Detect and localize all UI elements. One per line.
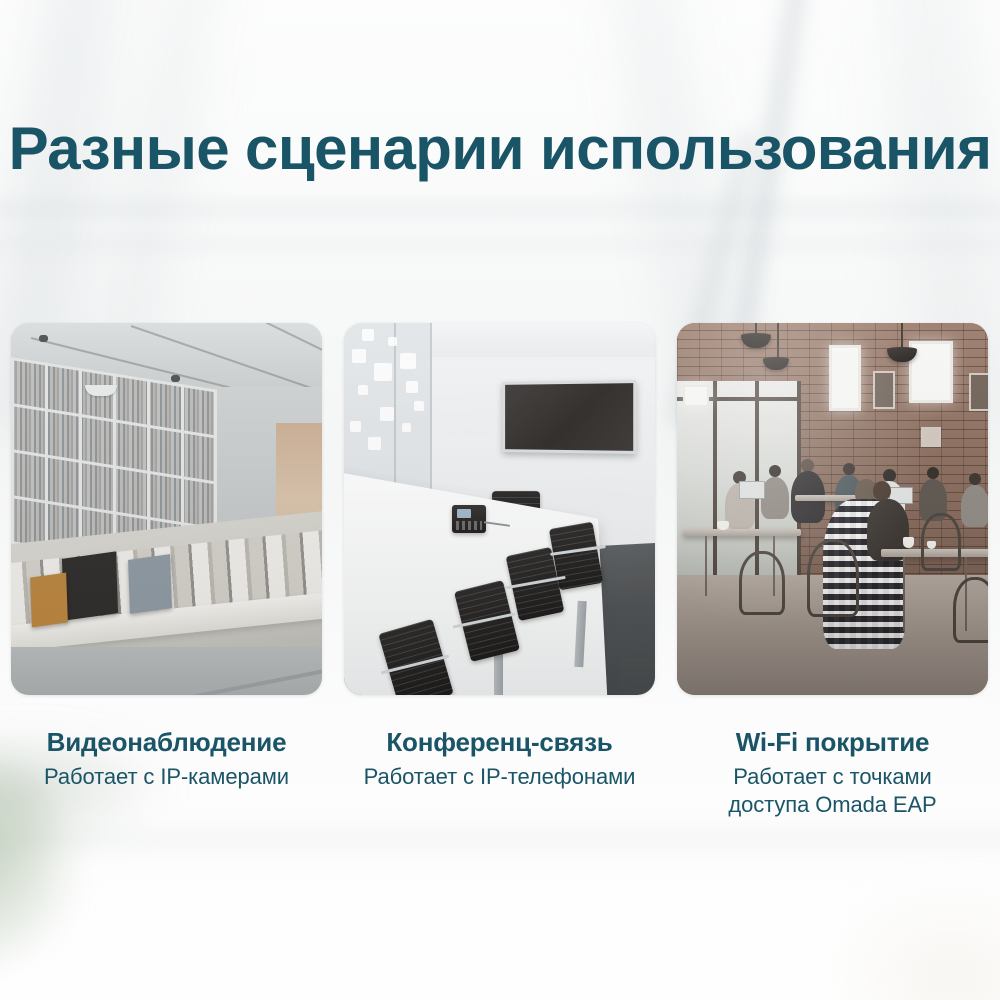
- phone-screen: [457, 509, 471, 518]
- card-title: Видеонаблюдение: [11, 727, 322, 758]
- card-subtitle: Работает с IP-телефонами: [344, 763, 655, 791]
- photo-lighting: [677, 323, 988, 695]
- card-caption: Wi-Fi покрытие Работает с точками доступ…: [677, 727, 988, 820]
- promo-slide: Разные сценарии использования: [0, 0, 1000, 1000]
- track-spotlight: [171, 375, 180, 382]
- page-title: Разные сценарии использования: [0, 117, 1000, 180]
- conference-room-photo: [344, 323, 655, 695]
- card-subtitle: Работает с точками доступа Omada EAP: [677, 763, 988, 819]
- display-book-cover: [62, 551, 118, 620]
- scenario-card-list: Видеонаблюдение Работает с IP-камерами: [11, 323, 989, 820]
- slide-content: Разные сценарии использования: [0, 0, 1000, 1000]
- display-book-cover: [128, 554, 172, 614]
- bookstore-library-photo: [11, 323, 322, 695]
- card-caption: Конференц-связь Работает с IP-телефонами: [344, 727, 655, 791]
- card-caption: Видеонаблюдение Работает с IP-камерами: [11, 727, 322, 791]
- scenario-card-wifi[interactable]: Wi-Fi покрытие Работает с точками доступ…: [677, 323, 988, 820]
- track-spotlight: [39, 335, 48, 342]
- card-title: Wi-Fi покрытие: [677, 727, 988, 758]
- ip-desk-phone: [452, 505, 486, 533]
- card-title: Конференц-связь: [344, 727, 655, 758]
- scenario-card-video-surveillance[interactable]: Видеонаблюдение Работает с IP-камерами: [11, 323, 322, 820]
- display-book-cover: [30, 573, 68, 628]
- phone-keypad: [456, 521, 482, 530]
- card-subtitle: Работает с IP-камерами: [11, 763, 322, 791]
- scenario-card-conference[interactable]: Конференц-связь Работает с IP-телефонами: [344, 323, 655, 820]
- cafe-coworking-photo: [677, 323, 988, 695]
- wall-mounted-tv: [502, 380, 636, 454]
- photo-floor: [11, 647, 322, 695]
